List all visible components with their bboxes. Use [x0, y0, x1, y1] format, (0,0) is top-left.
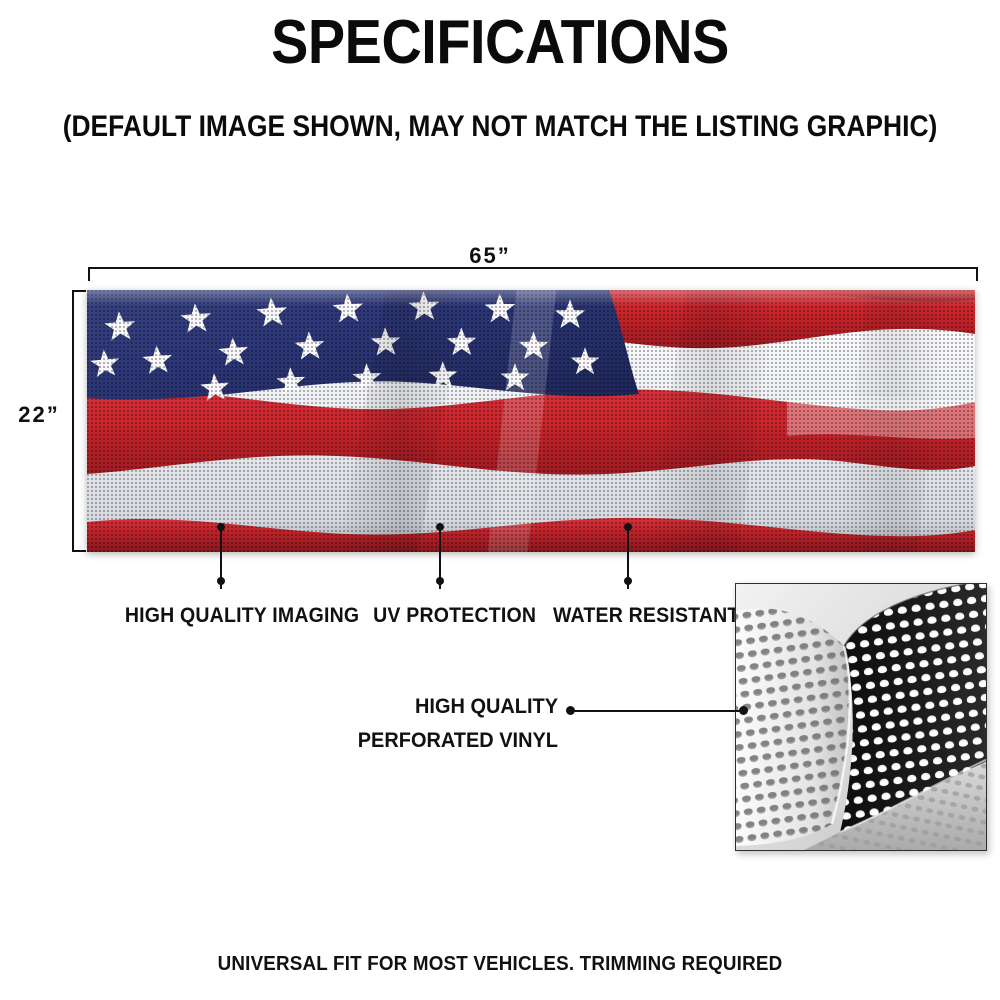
leader-dot-top — [217, 523, 225, 531]
height-dimension-bracket — [72, 290, 86, 552]
leader-bar — [571, 710, 743, 712]
callout-perforated-vinyl-line1: HIGH QUALITY — [313, 690, 558, 724]
flag-illustration — [87, 290, 975, 552]
product-image-flag — [87, 290, 975, 552]
leader-dot-right — [739, 706, 748, 715]
page-title: SPECIFICATIONS — [50, 12, 950, 74]
callout-water-resistant: WATER RESISTANT — [553, 604, 740, 628]
leader-line-perforated-vinyl — [566, 706, 748, 716]
perforated-vinyl-inset-image — [735, 583, 987, 851]
leader-dot-bottom — [624, 577, 632, 585]
specification-sheet: SPECIFICATIONS (DEFAULT IMAGE SHOWN, MAY… — [0, 0, 1000, 1000]
perforated-vinyl-illustration — [736, 584, 986, 850]
callout-uv-protection: UV PROTECTION — [373, 604, 536, 628]
leader-dot-top — [436, 523, 444, 531]
leader-dot-top — [624, 523, 632, 531]
callout-perforated-vinyl-line2: PERFORATED VINYL — [313, 724, 558, 758]
callout-high-quality-imaging: HIGH QUALITY IMAGING — [125, 604, 359, 628]
leader-dot-bottom — [217, 577, 225, 585]
footer-note: UNIVERSAL FIT FOR MOST VEHICLES. TRIMMIN… — [30, 953, 970, 976]
leader-dot-left — [566, 706, 575, 715]
page-subtitle: (DEFAULT IMAGE SHOWN, MAY NOT MATCH THE … — [60, 112, 940, 142]
leader-dot-bottom — [436, 577, 444, 585]
width-dimension-bracket — [88, 267, 978, 281]
width-dimension-label: 65” — [430, 243, 550, 269]
callout-perforated-vinyl: HIGH QUALITY PERFORATED VINYL — [313, 690, 558, 758]
height-dimension-label: 22” — [8, 402, 70, 428]
